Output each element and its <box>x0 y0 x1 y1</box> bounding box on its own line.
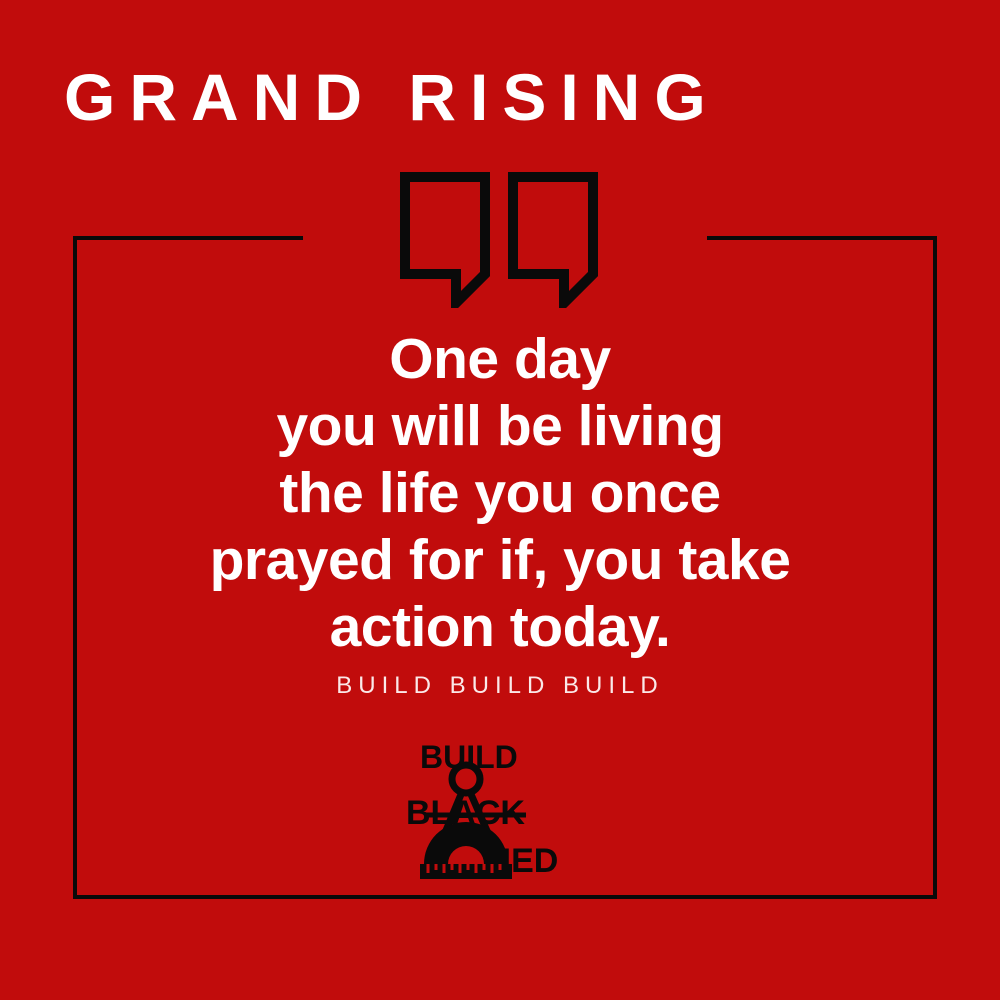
frame-top-left-segment <box>73 236 303 240</box>
quote-line: you will be living <box>100 393 900 460</box>
frame-right-edge <box>933 236 937 899</box>
page-title: GRAND RISING <box>64 64 944 130</box>
frame-top-right-segment <box>707 236 937 240</box>
quote-line: the life you once <box>100 460 900 527</box>
quote-line: action today. <box>100 594 900 661</box>
brand-logo: BUILD BLACK OWNED <box>398 738 618 886</box>
quote-mark-icon <box>396 168 612 308</box>
quote-card-canvas: GRAND RISING One day you will be living … <box>0 0 1000 1000</box>
logo-word-build: BUILD <box>420 739 518 775</box>
quote-text: One day you will be living the life you … <box>100 326 900 661</box>
frame-bottom-edge <box>73 895 937 899</box>
tagline: BUILD BUILD BUILD <box>100 672 900 700</box>
quote-line: One day <box>100 326 900 393</box>
frame-left-edge <box>73 236 77 899</box>
quote-line: prayed for if, you take <box>100 527 900 594</box>
